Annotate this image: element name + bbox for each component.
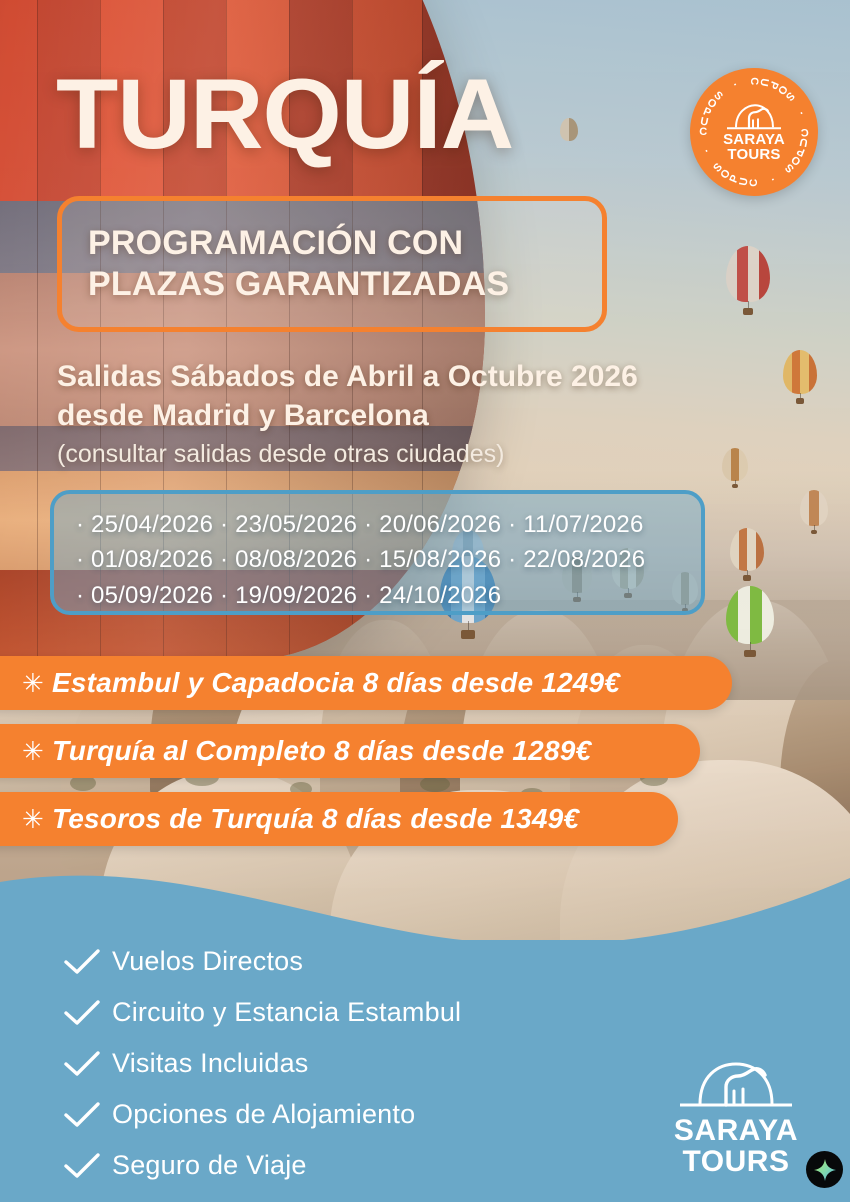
poster: TURQUÍA CUPOS·CUPOS·CUPOS·CUPOS· SARAYA … xyxy=(0,0,850,1202)
guaranteed-seats-line2: PLAZAS GARANTIZADAS xyxy=(88,264,602,305)
offer-text: Estambul y Capadocia 8 días desde 1249€ xyxy=(52,667,620,699)
features-list: Vuelos Directos Circuito y Estancia Esta… xyxy=(60,936,461,1191)
feature-label: Vuelos Directos xyxy=(112,948,303,975)
ai-sparkle-icon xyxy=(813,1158,837,1182)
feature-item: Opciones de Alojamiento xyxy=(60,1089,461,1140)
feature-item: Circuito y Estancia Estambul xyxy=(60,987,461,1038)
check-icon xyxy=(60,1151,104,1181)
offer-bar[interactable]: ✳ Tesoros de Turquía 8 días desde 1349€ xyxy=(0,792,678,846)
check-icon xyxy=(60,947,104,977)
feature-item: Visitas Incluidas xyxy=(60,1038,461,1089)
guaranteed-seats-line1: PROGRAMACIÓN CON xyxy=(88,223,602,264)
star-icon: ✳ xyxy=(22,670,44,696)
arch-camel-icon xyxy=(674,1056,798,1112)
guaranteed-seats-box: PROGRAMACIÓN CON PLAZAS GARANTIZADAS xyxy=(57,196,607,332)
page-title: TURQUÍA xyxy=(56,64,513,163)
badge-brand-line1: SARAYA xyxy=(711,132,797,147)
departures-note: (consultar salidas desde otras ciudades) xyxy=(57,439,797,469)
badge-brand: SARAYA TOURS xyxy=(711,101,797,163)
footer-logo-line1: SARAYA xyxy=(656,1116,816,1147)
offer-bar[interactable]: ✳ Estambul y Capadocia 8 días desde 1249… xyxy=(0,656,732,710)
feature-label: Seguro de Viaje xyxy=(112,1152,307,1179)
departures-line2: desde Madrid y Barcelona xyxy=(57,396,797,435)
feature-item: Vuelos Directos xyxy=(60,936,461,987)
departures-line1: Salidas Sábados de Abril a Octubre 2026 xyxy=(57,357,797,396)
feature-label: Circuito y Estancia Estambul xyxy=(112,999,461,1026)
offer-text: Tesoros de Turquía 8 días desde 1349€ xyxy=(52,803,579,835)
footer-logo-line2: TOURS xyxy=(656,1147,816,1178)
star-icon: ✳ xyxy=(22,738,44,764)
check-icon xyxy=(60,1049,104,1079)
feature-item: Seguro de Viaje xyxy=(60,1140,461,1191)
arch-camel-icon xyxy=(723,101,785,131)
feature-label: Opciones de Alojamiento xyxy=(112,1101,415,1128)
dates-row: · 25/04/2026 · 23/05/2026 · 20/06/2026 ·… xyxy=(76,507,701,542)
check-icon xyxy=(60,998,104,1028)
offer-text: Turquía al Completo 8 días desde 1289€ xyxy=(52,735,591,767)
feature-label: Visitas Incluidas xyxy=(112,1050,309,1077)
ai-watermark-badge xyxy=(806,1151,843,1188)
footer-logo: SARAYA TOURS xyxy=(656,1056,816,1177)
star-icon: ✳ xyxy=(22,806,44,832)
cupos-badge: CUPOS·CUPOS·CUPOS·CUPOS· SARAYA TOURS xyxy=(690,68,818,196)
offer-bar[interactable]: ✳ Turquía al Completo 8 días desde 1289€ xyxy=(0,724,700,778)
badge-brand-line2: TOURS xyxy=(711,148,797,163)
departures-block: Salidas Sábados de Abril a Octubre 2026 … xyxy=(57,357,797,469)
dates-row: · 01/08/2026 · 08/08/2026 · 15/08/2026 ·… xyxy=(76,542,701,577)
check-icon xyxy=(60,1100,104,1130)
departure-dates-box: · 25/04/2026 · 23/05/2026 · 20/06/2026 ·… xyxy=(50,490,705,615)
dates-row: · 05/09/2026 · 19/09/2026 · 24/10/2026 xyxy=(76,578,701,613)
